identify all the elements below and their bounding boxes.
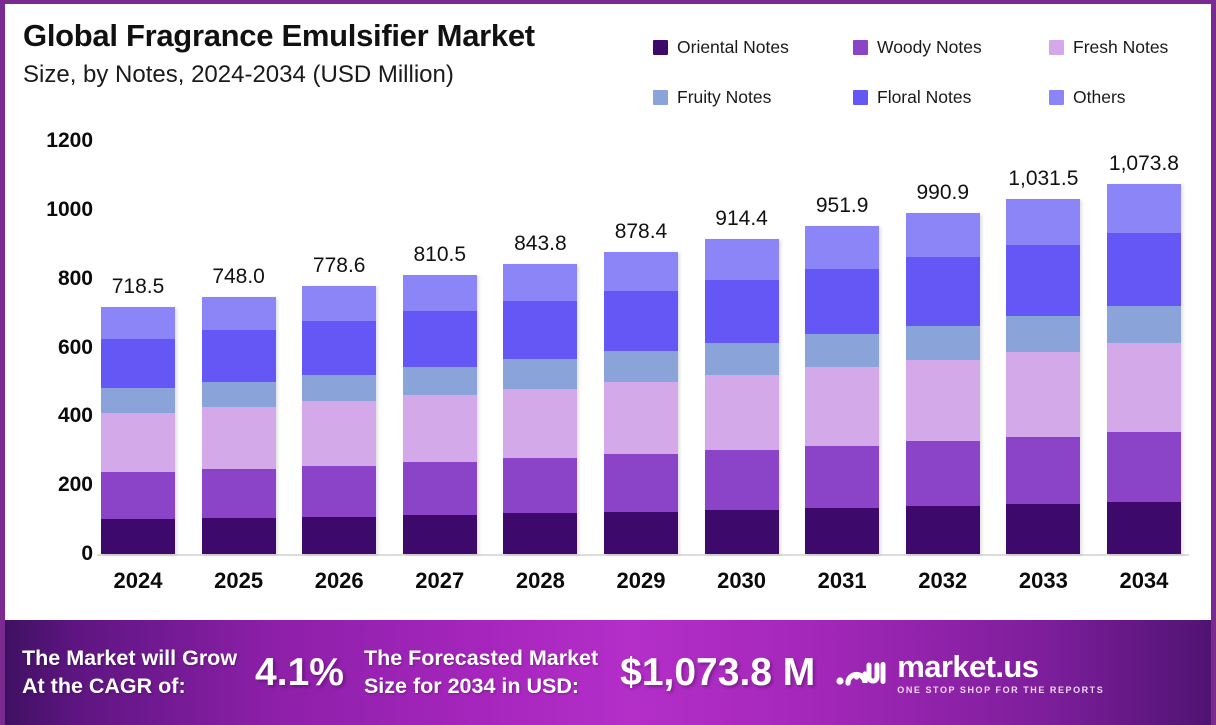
legend-item-label: Woody Notes bbox=[877, 37, 982, 58]
bar-stack[interactable] bbox=[202, 297, 276, 554]
footer-banner: The Market will Grow At the CAGR of: 4.1… bbox=[0, 620, 1216, 725]
legend-item-oriental-notes[interactable]: Oriental Notes bbox=[653, 34, 853, 60]
bar-column-2025[interactable]: 748.0 bbox=[202, 124, 276, 554]
bar-segment-others[interactable] bbox=[604, 252, 678, 291]
bar-segment-fruity-notes[interactable] bbox=[1006, 316, 1080, 352]
bar-segment-woody-notes[interactable] bbox=[1006, 437, 1080, 504]
x-axis-tick-2032: 2032 bbox=[906, 568, 980, 594]
bar-segment-floral-notes[interactable] bbox=[906, 257, 980, 325]
bar-segment-fruity-notes[interactable] bbox=[101, 388, 175, 413]
page-subtitle: Size, by Notes, 2024-2034 (USD Million) bbox=[23, 59, 663, 90]
bar-segment-floral-notes[interactable] bbox=[705, 280, 779, 343]
bar-segment-woody-notes[interactable] bbox=[202, 469, 276, 518]
bar-column-2026[interactable]: 778.6 bbox=[302, 124, 376, 554]
bar-segment-oriental-notes[interactable] bbox=[805, 508, 879, 554]
y-axis-tick: 0 bbox=[81, 542, 93, 566]
legend-item-label: Fresh Notes bbox=[1073, 37, 1168, 58]
forecast-label: The Forecasted Market Size for 2034 in U… bbox=[364, 645, 598, 700]
x-axis-tick-2033: 2033 bbox=[1006, 568, 1080, 594]
chart-header: Global Fragrance Emulsifier Market Size,… bbox=[5, 4, 1216, 124]
bar-segment-fruity-notes[interactable] bbox=[403, 367, 477, 395]
bar-stack[interactable] bbox=[705, 239, 779, 554]
bar-segment-woody-notes[interactable] bbox=[403, 462, 477, 515]
axis-baseline bbox=[97, 554, 1189, 556]
bar-total-label: 843.8 bbox=[514, 232, 567, 256]
bar-segment-others[interactable] bbox=[805, 226, 879, 269]
bar-segment-floral-notes[interactable] bbox=[1107, 233, 1181, 307]
bar-segment-fruity-notes[interactable] bbox=[503, 359, 577, 388]
bar-segment-oriental-notes[interactable] bbox=[604, 512, 678, 554]
cagr-label-line2: At the CAGR of: bbox=[22, 673, 237, 701]
bar-segment-woody-notes[interactable] bbox=[705, 450, 779, 510]
y-axis-tick: 800 bbox=[58, 267, 93, 291]
bar-column-2024[interactable]: 718.5 bbox=[101, 124, 175, 554]
bar-segment-fruity-notes[interactable] bbox=[202, 382, 276, 408]
bar-segment-fresh-notes[interactable] bbox=[503, 389, 577, 459]
bar-segment-woody-notes[interactable] bbox=[1107, 432, 1181, 502]
bar-stack[interactable] bbox=[604, 252, 678, 554]
bar-column-2031[interactable]: 951.9 bbox=[805, 124, 879, 554]
bar-segment-others[interactable] bbox=[705, 239, 779, 280]
bar-segment-others[interactable] bbox=[101, 307, 175, 339]
bar-column-2029[interactable]: 878.4 bbox=[604, 124, 678, 554]
y-axis-tick: 200 bbox=[58, 473, 93, 497]
forecast-value: $1,073.8 M bbox=[620, 651, 815, 695]
bar-segment-oriental-notes[interactable] bbox=[1006, 504, 1080, 554]
bar-segment-fresh-notes[interactable] bbox=[705, 375, 779, 451]
bar-segment-fresh-notes[interactable] bbox=[805, 367, 879, 446]
legend-item-label: Fruity Notes bbox=[677, 87, 771, 108]
legend-item-fruity-notes[interactable]: Fruity Notes bbox=[653, 84, 853, 110]
x-axis-tick-2024: 2024 bbox=[101, 568, 175, 594]
bar-stack[interactable] bbox=[805, 226, 879, 554]
bar-stack[interactable] bbox=[101, 307, 175, 554]
bar-total-label: 878.4 bbox=[615, 220, 668, 244]
bar-segment-oriental-notes[interactable] bbox=[705, 510, 779, 554]
infographic-root: Global Fragrance Emulsifier Market Size,… bbox=[0, 0, 1216, 725]
x-axis-tick-2028: 2028 bbox=[503, 568, 577, 594]
cagr-value: 4.1% bbox=[255, 651, 344, 695]
bar-segment-floral-notes[interactable] bbox=[805, 269, 879, 335]
bar-segment-oriental-notes[interactable] bbox=[503, 513, 577, 554]
bar-total-label: 778.6 bbox=[313, 254, 366, 278]
bar-segment-others[interactable] bbox=[403, 275, 477, 311]
bar-total-label: 718.5 bbox=[112, 275, 165, 299]
bar-segment-others[interactable] bbox=[906, 213, 980, 257]
forecast-label-line2: Size for 2034 in USD: bbox=[364, 673, 598, 701]
bar-segment-floral-notes[interactable] bbox=[302, 321, 376, 375]
bar-segment-woody-notes[interactable] bbox=[805, 446, 879, 508]
bar-total-label: 1,031.5 bbox=[1008, 167, 1078, 191]
bar-total-label: 914.4 bbox=[715, 207, 768, 231]
bar-segment-fresh-notes[interactable] bbox=[1107, 343, 1181, 432]
y-axis-tick: 1200 bbox=[46, 129, 93, 153]
bar-segment-fresh-notes[interactable] bbox=[202, 407, 276, 469]
bar-segment-fruity-notes[interactable] bbox=[1107, 306, 1181, 343]
bar-column-2028[interactable]: 843.8 bbox=[503, 124, 577, 554]
bar-segment-floral-notes[interactable] bbox=[503, 301, 577, 359]
cagr-label: The Market will Grow At the CAGR of: bbox=[22, 645, 237, 700]
bar-segment-others[interactable] bbox=[202, 297, 276, 330]
bar-segment-oriental-notes[interactable] bbox=[403, 515, 477, 554]
bar-column-2034[interactable]: 1,073.8 bbox=[1107, 124, 1181, 554]
bar-segment-fruity-notes[interactable] bbox=[604, 351, 678, 381]
bar-stack[interactable] bbox=[403, 275, 477, 554]
title-block: Global Fragrance Emulsifier Market Size,… bbox=[23, 18, 663, 90]
bar-segment-fresh-notes[interactable] bbox=[604, 382, 678, 455]
legend-item-woody-notes[interactable]: Woody Notes bbox=[853, 34, 1049, 60]
legend-swatch-icon bbox=[1049, 40, 1064, 55]
bar-segment-floral-notes[interactable] bbox=[604, 291, 678, 351]
bar-segment-floral-notes[interactable] bbox=[101, 339, 175, 388]
forecast-label-line1: The Forecasted Market bbox=[364, 645, 598, 673]
bar-series-container: 718.5748.0778.6810.5843.8878.4914.4951.9… bbox=[101, 124, 1181, 554]
brand-name: market.us bbox=[897, 651, 1104, 682]
bar-total-label: 810.5 bbox=[414, 243, 467, 267]
bar-column-2032[interactable]: 990.9 bbox=[906, 124, 980, 554]
bar-segment-oriental-notes[interactable] bbox=[906, 506, 980, 554]
x-axis-tick-2026: 2026 bbox=[302, 568, 376, 594]
bar-stack[interactable] bbox=[1107, 184, 1181, 554]
bar-segment-woody-notes[interactable] bbox=[906, 441, 980, 506]
bar-total-label: 748.0 bbox=[212, 265, 265, 289]
bar-segment-woody-notes[interactable] bbox=[503, 458, 577, 513]
x-axis-tick-2025: 2025 bbox=[202, 568, 276, 594]
bar-stack[interactable] bbox=[906, 213, 980, 554]
legend-swatch-icon bbox=[853, 40, 868, 55]
bar-column-2027[interactable]: 810.5 bbox=[403, 124, 477, 554]
bar-total-label: 990.9 bbox=[916, 181, 969, 205]
bar-segment-fresh-notes[interactable] bbox=[403, 395, 477, 462]
bar-segment-oriental-notes[interactable] bbox=[302, 517, 376, 555]
y-axis-tick: 1000 bbox=[46, 198, 93, 222]
bar-segment-fresh-notes[interactable] bbox=[906, 360, 980, 442]
y-axis: 020040060080010001200 bbox=[15, 124, 93, 564]
legend-swatch-icon bbox=[653, 40, 668, 55]
brand-logo: market.us ONE STOP SHOP FOR THE REPORTS bbox=[835, 651, 1104, 695]
legend-swatch-icon bbox=[853, 90, 868, 105]
bar-segment-floral-notes[interactable] bbox=[202, 330, 276, 381]
x-axis: 2024202520262027202820292030203120322033… bbox=[101, 568, 1181, 594]
bar-segment-fresh-notes[interactable] bbox=[302, 401, 376, 465]
cagr-label-line1: The Market will Grow bbox=[22, 645, 237, 673]
bar-segment-fruity-notes[interactable] bbox=[302, 375, 376, 402]
bar-segment-floral-notes[interactable] bbox=[403, 311, 477, 367]
brand-wordmark: market.us ONE STOP SHOP FOR THE REPORTS bbox=[897, 651, 1104, 695]
y-axis-tick: 600 bbox=[58, 336, 93, 360]
page-title: Global Fragrance Emulsifier Market bbox=[23, 18, 663, 54]
legend-item-label: Oriental Notes bbox=[677, 37, 789, 58]
bar-segment-fresh-notes[interactable] bbox=[101, 413, 175, 472]
plot-area: 020040060080010001200 718.5748.0778.6810… bbox=[5, 124, 1216, 619]
legend-item-others[interactable]: Others bbox=[1049, 84, 1205, 110]
bar-segment-others[interactable] bbox=[302, 286, 376, 321]
bar-segment-oriental-notes[interactable] bbox=[1107, 502, 1181, 554]
brand-tagline: ONE STOP SHOP FOR THE REPORTS bbox=[897, 685, 1104, 695]
x-axis-tick-2027: 2027 bbox=[403, 568, 477, 594]
bar-segment-others[interactable] bbox=[1006, 199, 1080, 245]
legend-item-floral-notes[interactable]: Floral Notes bbox=[853, 84, 1049, 110]
legend-swatch-icon bbox=[1049, 90, 1064, 105]
x-axis-tick-2029: 2029 bbox=[604, 568, 678, 594]
bar-segment-fresh-notes[interactable] bbox=[1006, 352, 1080, 437]
market-us-logo-icon bbox=[835, 653, 887, 693]
bar-total-label: 1,073.8 bbox=[1109, 152, 1179, 176]
bar-segment-woody-notes[interactable] bbox=[101, 472, 175, 519]
x-axis-tick-2031: 2031 bbox=[805, 568, 879, 594]
bar-segment-oriental-notes[interactable] bbox=[101, 519, 175, 554]
bar-stack[interactable] bbox=[1006, 199, 1080, 554]
bar-segment-fruity-notes[interactable] bbox=[805, 334, 879, 367]
bar-segment-fruity-notes[interactable] bbox=[906, 326, 980, 360]
legend-item-label: Floral Notes bbox=[877, 87, 971, 108]
bar-segment-fruity-notes[interactable] bbox=[705, 343, 779, 374]
bar-stack[interactable] bbox=[302, 286, 376, 554]
y-axis-tick: 400 bbox=[58, 404, 93, 428]
bar-column-2030[interactable]: 914.4 bbox=[705, 124, 779, 554]
bar-segment-floral-notes[interactable] bbox=[1006, 245, 1080, 316]
legend-item-fresh-notes[interactable]: Fresh Notes bbox=[1049, 34, 1205, 60]
bar-column-2033[interactable]: 1,031.5 bbox=[1006, 124, 1080, 554]
bar-stack[interactable] bbox=[503, 264, 577, 554]
bar-segment-others[interactable] bbox=[1107, 184, 1181, 232]
x-axis-tick-2034: 2034 bbox=[1107, 568, 1181, 594]
legend-item-label: Others bbox=[1073, 87, 1126, 108]
bar-segment-oriental-notes[interactable] bbox=[202, 518, 276, 554]
bar-segment-woody-notes[interactable] bbox=[302, 466, 376, 517]
bar-total-label: 951.9 bbox=[816, 194, 869, 218]
bar-segment-woody-notes[interactable] bbox=[604, 454, 678, 511]
x-axis-tick-2030: 2030 bbox=[705, 568, 779, 594]
legend-swatch-icon bbox=[653, 90, 668, 105]
bar-segment-others[interactable] bbox=[503, 264, 577, 302]
chart-legend: Oriental NotesWoody NotesFresh NotesFrui… bbox=[653, 34, 1205, 134]
